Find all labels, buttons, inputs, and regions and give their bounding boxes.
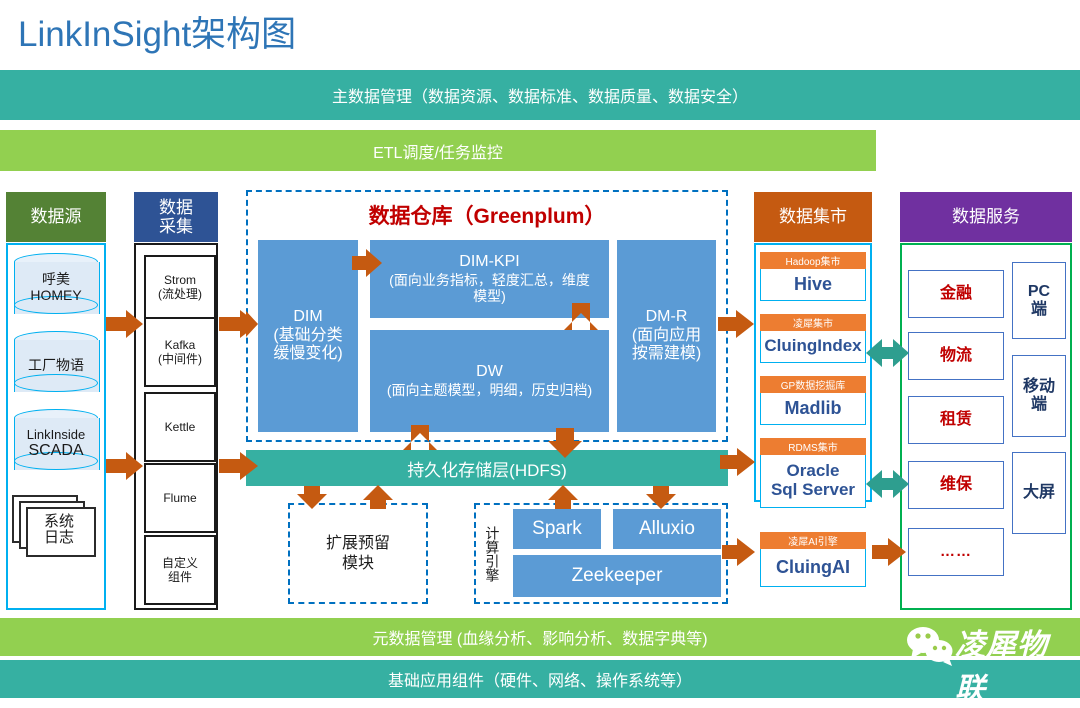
arrow-into-dim [236, 311, 258, 337]
data-source-label-line2: SCADA [28, 442, 83, 460]
data-source-label-line1: 呼美 [42, 272, 70, 288]
data-source-label-line2: 日志 [44, 530, 74, 547]
wechat-icon [905, 625, 957, 667]
arrow-collect-to-hdfs [219, 452, 258, 480]
arrow-source-to-collect-top [106, 310, 143, 338]
arrow-overlay [0, 0, 1080, 698]
arrow-hdfs-to-reserve-down [297, 486, 327, 509]
arrow-bidirectional-mart-logistics [866, 339, 909, 367]
arrow-compute-to-cluingai [722, 538, 755, 566]
arrow-dim-to-dimkpi [352, 249, 382, 277]
arrow-hdfs-to-warehouse-up [403, 425, 437, 450]
brand-logo: 凌犀物联 [905, 622, 1075, 674]
data-source-label-line1: 系统 [44, 514, 74, 531]
arrow-bidirectional-mart-maintenance [866, 470, 909, 498]
data-source-cylinder-homey[interactable]: 呼美 HOMEY [14, 253, 98, 323]
arrow-reserve-to-hdfs-up [363, 485, 393, 509]
arrow-hdfs-to-datamart [720, 448, 755, 476]
data-source-label-line1: LinkInside [27, 428, 86, 443]
arrow-dmr-to-datamart [718, 310, 754, 338]
data-source-cylinder-scada[interactable]: LinkInside SCADA [14, 409, 98, 479]
data-source-label-line2: HOMEY [30, 288, 81, 304]
arrow-source-to-collect-bottom [106, 452, 143, 480]
arrow-hdfs-to-compute-down [646, 486, 676, 509]
arrow-warehouse-to-hdfs-down [548, 428, 582, 458]
arrow-dw-to-dimkpi-up [564, 303, 598, 330]
arrow-compute-to-hdfs-up [548, 485, 578, 509]
data-source-label-line1: 工厂物语 [28, 358, 84, 374]
data-source-cylinder-factory[interactable]: 工厂物语 [14, 331, 98, 401]
arrow-cluingai-to-service-more [872, 538, 906, 566]
logo-text: 凌犀物联 [955, 620, 1075, 708]
